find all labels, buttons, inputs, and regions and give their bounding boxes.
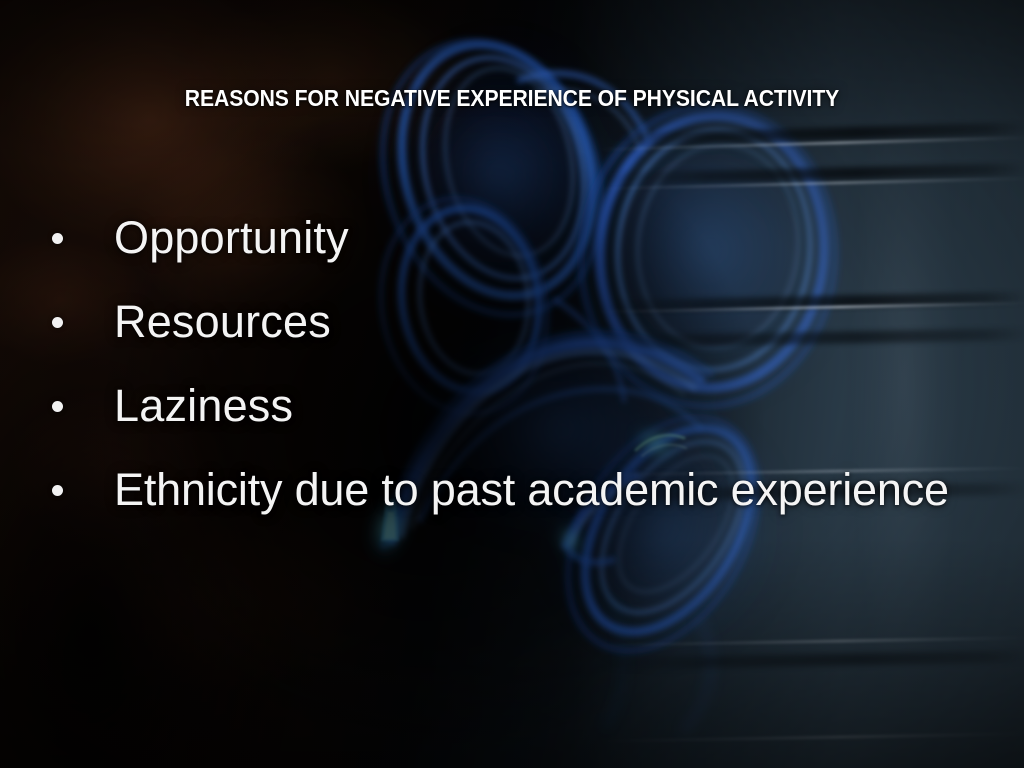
bullet-item-laziness: Laziness (52, 364, 992, 448)
bullet-list: Opportunity Resources Laziness Ethnicity… (52, 196, 992, 532)
bullet-label: Opportunity (114, 213, 349, 263)
bullet-item-opportunity: Opportunity (52, 196, 992, 280)
bullet-label: Resources (114, 297, 331, 347)
bullet-dot-icon (52, 485, 63, 496)
slide-title: REASONS FOR NEGATIVE EXPERIENCE OF PHYSI… (41, 84, 983, 112)
presentation-slide: REASONS FOR NEGATIVE EXPERIENCE OF PHYSI… (0, 0, 1024, 768)
bullet-item-ethnicity: Ethnicity due to past academic experienc… (52, 448, 992, 532)
bullet-dot-icon (52, 401, 63, 412)
slide-content: REASONS FOR NEGATIVE EXPERIENCE OF PHYSI… (0, 0, 1024, 768)
bullet-dot-icon (52, 233, 63, 244)
bullet-label: Ethnicity due to past academic experienc… (114, 465, 949, 515)
bullet-item-resources: Resources (52, 280, 992, 364)
bullet-label: Laziness (114, 381, 293, 431)
bullet-dot-icon (52, 317, 63, 328)
